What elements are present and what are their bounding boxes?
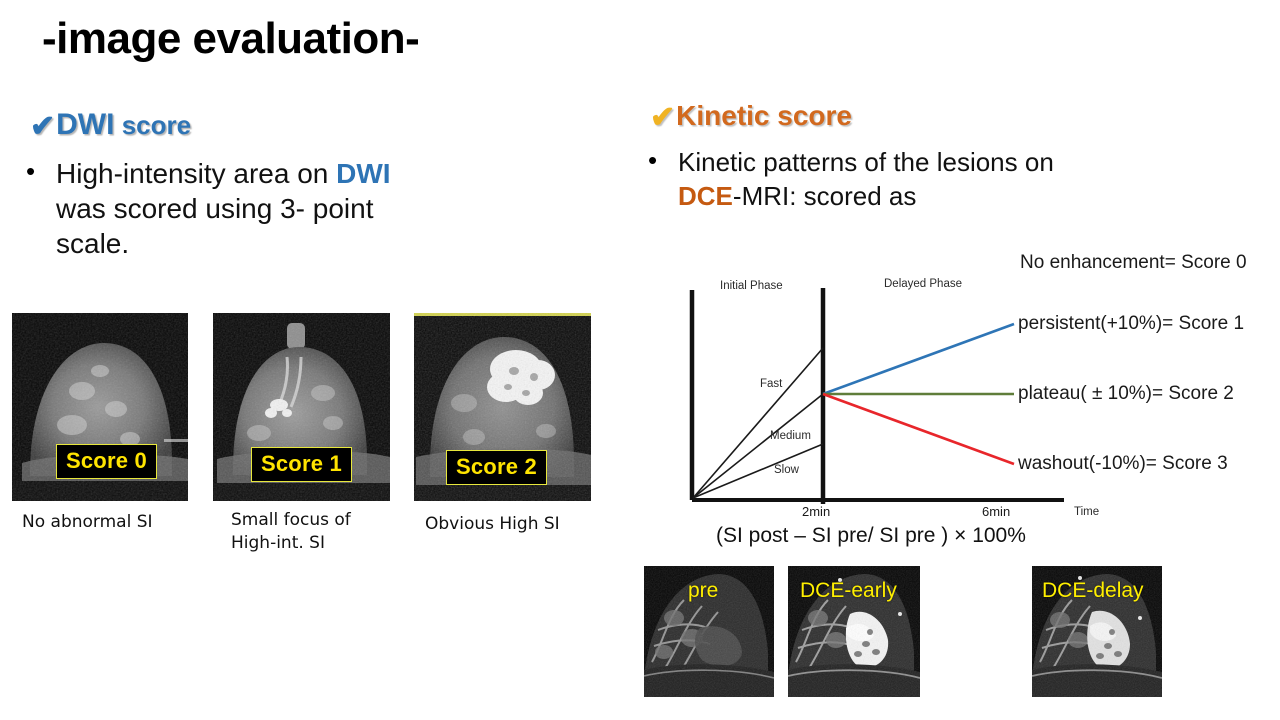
dwi-example-image-0: Score 0 [12, 313, 188, 501]
check-mark-icon: ✔ [30, 110, 55, 143]
dwi-caption-2: Obvious High SI [425, 513, 560, 536]
dwi-score-tag-2: Score 2 [446, 450, 547, 485]
chart-annotation-plateau: plateau( ± 10%)= Score 2 [1018, 383, 1234, 405]
chart-label-fast: Fast [760, 378, 782, 390]
kinetic-bullet-accent: DCE [678, 181, 733, 211]
chart-x-tick-2min: 2min [802, 504, 830, 519]
chart-curve-slow [693, 444, 823, 498]
chart-formula: (SI post – SI pre/ SI pre ) × 100% [716, 524, 1026, 548]
dwi-score-heading: ✔DWI score [30, 108, 191, 142]
bullet-marker: • [26, 156, 56, 186]
kinetic-curve-chart: Initial Phase Delayed Phase Fast Medium … [684, 248, 1280, 548]
kinetic-heading-primary: Kinetic [676, 100, 769, 131]
page-title: -image evaluation- [42, 14, 419, 64]
dwi-heading-primary: DWI [56, 108, 114, 141]
dwi-bullet-line1-a: High-intensity area on [56, 158, 336, 189]
chart-curve-persistent [823, 324, 1014, 394]
dwi-caption-1-line2: High-int. SI [231, 532, 351, 555]
dwi-caption-1-line1: Small focus of [231, 509, 351, 532]
dwi-caption-2-line1: Obvious High SI [425, 513, 560, 536]
chart-annotation-score-0: No enhancement= Score 0 [1020, 252, 1247, 274]
chart-x-tick-6min: 6min [982, 504, 1010, 519]
dwi-bullet-item: • High-intensity area on DWIwas scored u… [26, 156, 596, 261]
kinetic-heading-secondary: score [770, 100, 853, 131]
chart-curve-medium [693, 394, 823, 498]
dce-label-early: DCE-early [800, 580, 897, 601]
dce-example-image-early: DCE-early [788, 566, 920, 697]
slide-canvas: -image evaluation- ✔DWI score • High-int… [0, 0, 1280, 720]
bullet-marker: • [648, 145, 678, 175]
chart-x-axis-title: Time [1074, 506, 1099, 518]
kinetic-bullet-line1: Kinetic patterns of the lesions on [678, 147, 1054, 177]
dce-example-image-delay: DCE-delay [1032, 566, 1162, 697]
dwi-bullet-accent: DWI [336, 158, 390, 189]
dwi-score-tag-1: Score 1 [251, 447, 352, 482]
chart-annotation-washout: washout(-10%)= Score 3 [1018, 453, 1228, 475]
check-mark-icon: ✔ [650, 101, 675, 134]
dwi-score-tag-0: Score 0 [56, 444, 157, 479]
dwi-bullet-line3: scale. [56, 228, 129, 259]
chart-label-slow: Slow [774, 464, 799, 476]
dce-label-delay: DCE-delay [1042, 580, 1144, 601]
chart-label-medium: Medium [770, 430, 811, 442]
chart-phase-label-initial: Initial Phase [720, 280, 783, 292]
chart-phase-label-delayed: Delayed Phase [884, 278, 962, 290]
dce-example-image-pre: pre [644, 566, 774, 697]
dwi-caption-0-line1: No abnormal SI [22, 511, 153, 534]
dwi-heading-secondary: score [114, 110, 191, 140]
kinetic-bullet-line2-rest: -MRI: scored as [733, 181, 917, 211]
dwi-example-image-2: Score 2 [414, 313, 591, 501]
dwi-caption-0: No abnormal SI [22, 511, 153, 534]
dwi-bullet-text: High-intensity area on DWIwas scored usi… [56, 156, 391, 261]
dwi-bullet-line2: was scored using 3- point [56, 193, 374, 224]
kinetic-bullet-text: Kinetic patterns of the lesions onDCE-MR… [678, 145, 1054, 213]
kinetic-score-heading: ✔Kinetic score [650, 100, 852, 133]
dce-label-pre: pre [688, 580, 718, 601]
chart-curve-washout [823, 394, 1014, 464]
chart-annotation-persistent: persistent(+10%)= Score 1 [1018, 313, 1244, 335]
chart-curve-fast [693, 348, 823, 498]
dwi-example-image-1: Score 1 [213, 313, 390, 501]
kinetic-bullet-item: • Kinetic patterns of the lesions onDCE-… [648, 145, 1268, 213]
dwi-caption-1: Small focus of High-int. SI [231, 509, 351, 555]
